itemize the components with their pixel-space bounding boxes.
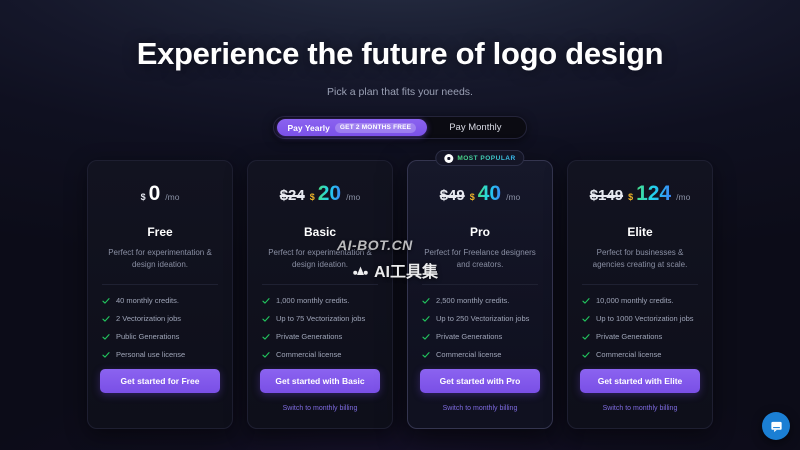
list-item: Up to 1000 Vectorization jobs [582, 314, 698, 323]
list-item: Commercial license [262, 350, 378, 359]
get-started-button-elite[interactable]: Get started with Elite [580, 369, 700, 393]
old-price: $49 [440, 187, 465, 204]
list-item: 10,000 monthly credits. [582, 296, 698, 305]
check-icon [262, 351, 270, 359]
billing-toggle[interactable]: Pay Yearly GET 2 MONTHS FREE Pay Monthly [273, 116, 528, 139]
price-period: /mo [506, 192, 520, 202]
pricing-cards: $0/moFreePerfect for experimentation & d… [0, 160, 800, 429]
chat-bubble-icon [769, 419, 784, 434]
feature-text: Commercial license [596, 350, 661, 359]
feature-list: 1,000 monthly credits.Up to 75 Vectoriza… [260, 296, 380, 359]
list-item: 1,000 monthly credits. [262, 296, 378, 305]
plan-name: Elite [580, 225, 700, 239]
plan-description: Perfect for experimentation & design ide… [260, 247, 380, 271]
list-item: 2 Vectorization jobs [102, 314, 218, 323]
switch-billing-link[interactable]: Switch to monthly billing [420, 405, 540, 414]
currency-symbol: $ [470, 192, 475, 202]
toggle-pay-yearly-label: Pay Yearly [288, 123, 330, 133]
plan-name: Free [100, 225, 220, 239]
toggle-yearly-badge: GET 2 MONTHS FREE [335, 123, 416, 133]
feature-text: Private Generations [436, 332, 502, 341]
plan-description: Perfect for businesses & agencies creati… [580, 247, 700, 271]
card-divider [262, 284, 378, 285]
price-row-elite: $149$124/mo [580, 183, 700, 211]
list-item: 40 monthly credits. [102, 296, 218, 305]
check-icon [422, 297, 430, 305]
price-row-free: $0/mo [100, 183, 220, 211]
feature-text: 10,000 monthly credits. [596, 296, 674, 305]
check-icon [102, 351, 110, 359]
check-icon [262, 333, 270, 341]
currency-symbol: $ [310, 192, 315, 202]
feature-list: 10,000 monthly credits.Up to 1000 Vector… [580, 296, 700, 359]
plan-name: Basic [260, 225, 380, 239]
list-item: Private Generations [262, 332, 378, 341]
pricing-card-free: $0/moFreePerfect for experimentation & d… [87, 160, 233, 429]
feature-text: Private Generations [276, 332, 342, 341]
check-icon [422, 333, 430, 341]
check-icon [262, 315, 270, 323]
pricing-card-basic: $24$20/moBasicPerfect for experimentatio… [247, 160, 393, 429]
most-popular-label: MOST POPULAR [457, 155, 515, 162]
page-title: Experience the future of logo design [0, 0, 800, 72]
feature-text: Commercial license [276, 350, 341, 359]
plan-description: Perfect for Freelance designers and crea… [420, 247, 540, 271]
feature-text: Commercial license [436, 350, 501, 359]
check-icon [582, 333, 590, 341]
card-spacer [580, 359, 700, 369]
check-icon [102, 315, 110, 323]
price-amount: 0 [149, 183, 161, 204]
currency-symbol: $ [141, 192, 146, 202]
feature-text: Private Generations [596, 332, 662, 341]
old-price: $24 [280, 187, 305, 204]
most-popular-badge: MOST POPULAR [435, 150, 524, 166]
list-item: Commercial license [422, 350, 538, 359]
feature-text: 2,500 monthly credits. [436, 296, 509, 305]
feature-list: 2,500 monthly credits.Up to 250 Vectoriz… [420, 296, 540, 359]
card-divider [582, 284, 698, 285]
pricing-card-pro: MOST POPULAR$49$40/moProPerfect for Free… [407, 160, 553, 429]
feature-text: 1,000 monthly credits. [276, 296, 349, 305]
list-item: Up to 75 Vectorization jobs [262, 314, 378, 323]
currency-symbol: $ [628, 192, 633, 202]
card-spacer [420, 359, 540, 369]
billing-toggle-container: Pay Yearly GET 2 MONTHS FREE Pay Monthly [0, 116, 800, 139]
list-item: Commercial license [582, 350, 698, 359]
get-started-button-free[interactable]: Get started for Free [100, 369, 220, 393]
toggle-pay-yearly[interactable]: Pay Yearly GET 2 MONTHS FREE [277, 119, 428, 136]
chat-widget-button[interactable] [762, 412, 790, 440]
list-item: 2,500 monthly credits. [422, 296, 538, 305]
price-row-basic: $24$20/mo [260, 183, 380, 211]
check-icon [422, 351, 430, 359]
pricing-card-elite: $149$124/moElitePerfect for businesses &… [567, 160, 713, 429]
list-item: Private Generations [422, 332, 538, 341]
card-spacer [100, 359, 220, 369]
check-icon [102, 333, 110, 341]
check-icon [422, 315, 430, 323]
page-subtitle: Pick a plan that fits your needs. [0, 86, 800, 98]
price-row-pro: $49$40/mo [420, 183, 540, 211]
feature-text: Up to 1000 Vectorization jobs [596, 314, 694, 323]
price-period: /mo [346, 192, 360, 202]
toggle-pay-monthly[interactable]: Pay Monthly [427, 119, 523, 136]
price-period: /mo [165, 192, 179, 202]
get-started-button-pro[interactable]: Get started with Pro [420, 369, 540, 393]
card-spacer [260, 359, 380, 369]
list-item: Up to 250 Vectorization jobs [422, 314, 538, 323]
check-icon [582, 297, 590, 305]
switch-billing-link[interactable]: Switch to monthly billing [260, 405, 380, 414]
old-price: $149 [590, 187, 623, 204]
price-amount: 20 [318, 183, 341, 204]
check-icon [582, 315, 590, 323]
check-icon [262, 297, 270, 305]
sparkle-circle-icon [444, 154, 453, 163]
get-started-button-basic[interactable]: Get started with Basic [260, 369, 380, 393]
price-period: /mo [676, 192, 690, 202]
pricing-page: Experience the future of logo design Pic… [0, 0, 800, 450]
feature-text: 40 monthly credits. [116, 296, 179, 305]
list-item: Public Generations [102, 332, 218, 341]
feature-text: Personal use license [116, 350, 185, 359]
feature-text: Up to 250 Vectorization jobs [436, 314, 529, 323]
switch-billing-link[interactable]: Switch to monthly billing [580, 405, 700, 414]
check-icon [102, 297, 110, 305]
feature-list: 40 monthly credits.2 Vectorization jobsP… [100, 296, 220, 359]
list-item: Private Generations [582, 332, 698, 341]
card-divider [422, 284, 538, 285]
check-icon [582, 351, 590, 359]
list-item: Personal use license [102, 350, 218, 359]
feature-text: 2 Vectorization jobs [116, 314, 181, 323]
feature-text: Up to 75 Vectorization jobs [276, 314, 365, 323]
price-amount: 124 [636, 183, 671, 204]
price-amount: 40 [478, 183, 501, 204]
plan-name: Pro [420, 225, 540, 239]
card-divider [102, 284, 218, 285]
plan-description: Perfect for experimentation & design ide… [100, 247, 220, 271]
feature-text: Public Generations [116, 332, 179, 341]
